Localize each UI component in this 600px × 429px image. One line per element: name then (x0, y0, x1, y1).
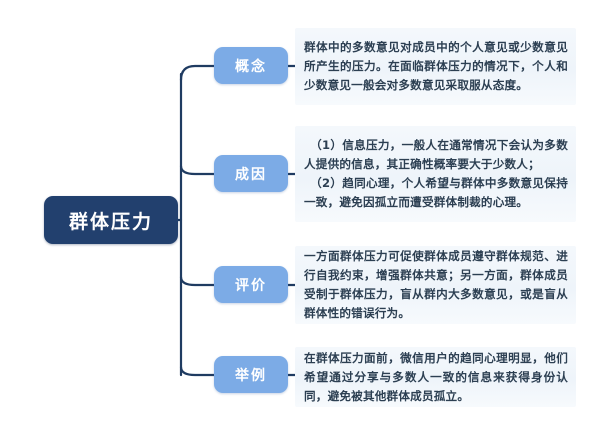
branch-node-concept[interactable]: 概念 (214, 47, 288, 84)
content-text-concept: 群体中的多数意见对成员中的个人意见或少数意见所产生的压力。在面临群体压力的情况下… (304, 38, 568, 95)
content-block-evaluation: 一方面群体压力可促使群体成员遵守群体规范、进行自我约束，增强群体共意；另一方面，… (295, 246, 576, 324)
wire-branch-1 (181, 66, 214, 80)
branch-node-example-label: 举例 (235, 365, 267, 385)
branch-node-concept-label: 概念 (235, 56, 267, 76)
branch-node-causes-label: 成因 (235, 164, 267, 184)
wire-branch-4 (181, 367, 214, 375)
content-text-evaluation: 一方面群体压力可促使群体成员遵守群体规范、进行自我约束，增强群体共意；另一方面，… (304, 247, 568, 323)
root-node[interactable]: 群体压力 (44, 196, 178, 244)
root-node-label: 群体压力 (69, 207, 153, 234)
wire-branch-2 (181, 166, 214, 174)
content-block-example: 在群体压力面前，微信用户的趋同心理明显，他们希望通过分享与多数人一致的信息来获得… (295, 347, 576, 407)
branch-node-example[interactable]: 举例 (214, 356, 288, 393)
mindmap-canvas: 群体压力 概念 群体中的多数意见对成员中的个人意见或少数意见所产生的压力。在面临… (0, 0, 600, 429)
branch-node-causes[interactable]: 成因 (214, 155, 288, 192)
content-text-causes: （1）信息压力，一般人在通常情况下会认为多数人提供的信息，其正确性概率要大于少数… (304, 136, 568, 212)
branch-node-evaluation-label: 评价 (235, 275, 267, 295)
wire-branch-3 (181, 277, 214, 285)
branch-node-evaluation[interactable]: 评价 (214, 266, 288, 303)
content-block-concept: 群体中的多数意见对成员中的个人意见或少数意见所产生的压力。在面临群体压力的情况下… (295, 28, 576, 105)
content-block-causes: （1）信息压力，一般人在通常情况下会认为多数人提供的信息，其正确性概率要大于少数… (295, 126, 576, 222)
content-text-example: 在群体压力面前，微信用户的趋同心理明显，他们希望通过分享与多数人一致的信息来获得… (304, 349, 568, 406)
